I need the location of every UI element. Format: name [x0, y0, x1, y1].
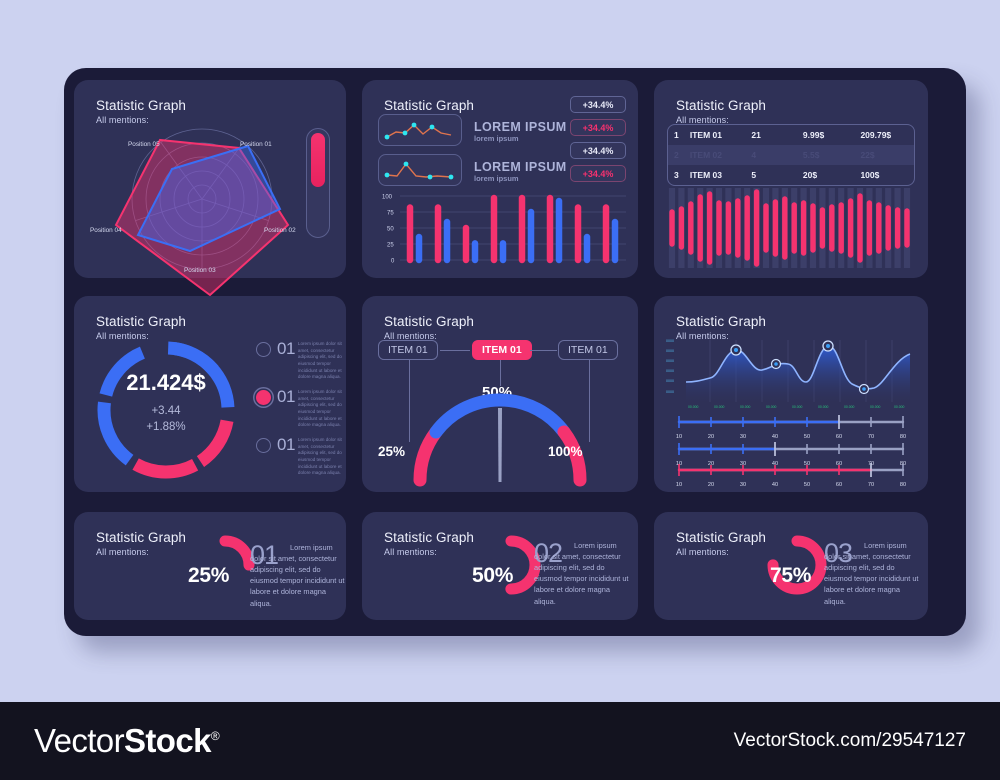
panel-title: Statistic Graph: [676, 314, 766, 329]
svg-text:00.000: 00.000: [870, 405, 880, 409]
chip-item-2[interactable]: ITEM 01: [558, 340, 618, 360]
svg-text:75: 75: [387, 211, 394, 217]
svg-text:20: 20: [708, 482, 714, 488]
legend-item-0[interactable]: 01 Lorem ipsum dolor sit amet, consectet…: [256, 339, 350, 381]
svg-text:00.000: 00.000: [688, 405, 698, 409]
percent-value: 75%: [770, 564, 811, 588]
svg-text:25: 25: [387, 243, 394, 249]
cell-total: 100$: [860, 170, 914, 180]
donut-center-value: 21.424$: [126, 370, 206, 395]
table-row[interactable]: 2 ITEM 02 4 5.5$ 22$: [668, 145, 914, 165]
panel-bar-chart: Statistic Graph All mentions: LOREM IPSU…: [362, 80, 638, 278]
svg-text:80: 80: [900, 482, 906, 488]
panel-subtitle: All mentions:: [96, 547, 149, 557]
cell-qty: 21: [751, 130, 803, 140]
svg-text:70: 70: [868, 482, 874, 488]
svg-text:60: 60: [836, 434, 842, 440]
cell-qty: 4: [751, 150, 803, 160]
waveform-histogram-svg: [665, 186, 917, 270]
radar-axis-label-3: Position 04: [90, 227, 122, 234]
svg-text:00.000: 00.000: [766, 405, 776, 409]
chip-connector-right: [530, 350, 557, 351]
item-subtitle-0: lorem ipsum: [474, 134, 519, 143]
watermark-footer: VectorStock® VectorStock.com/29547127: [0, 702, 1000, 780]
svg-text:00.000: 00.000: [714, 405, 724, 409]
legend-item-2[interactable]: 01 Lorem ipsum dolor sit amet, consectet…: [256, 435, 350, 477]
percent-value: 50%: [472, 564, 513, 588]
svg-text:80: 80: [900, 434, 906, 440]
sparkline-card-1[interactable]: [378, 154, 462, 186]
percent-description: Lorem ipsum dolor sit amet, consectetur …: [824, 540, 920, 607]
svg-text:0000: 0000: [666, 339, 674, 343]
sparkline-icon: [385, 120, 457, 142]
cell-no: 1: [668, 130, 690, 140]
table-row[interactable]: 1 ITEM 01 21 9.99$ 209.79$: [668, 125, 914, 145]
item-title-1: LOREM IPSUM: [474, 160, 567, 174]
svg-text:50: 50: [804, 434, 810, 440]
svg-text:0000: 0000: [666, 359, 674, 363]
svg-text:0000: 0000: [666, 390, 674, 394]
cell-no: 2: [668, 150, 690, 160]
cell-total: 22$: [860, 150, 914, 160]
panel-area-chart: Statistic Graph All mentions:: [654, 296, 928, 492]
sparkline-icon: [385, 160, 457, 182]
cell-item: ITEM 03: [690, 170, 751, 180]
svg-text:70: 70: [868, 434, 874, 440]
svg-text:00.000: 00.000: [792, 405, 802, 409]
panel-percent-1: Statistic Graph All mentions: 25% 01 Lor…: [74, 512, 346, 620]
logo-light: Vector: [34, 722, 124, 759]
cell-price: 9.99$: [803, 130, 861, 140]
chip-connector-left: [440, 350, 470, 351]
slider-fill: [311, 133, 325, 187]
radar-axis-label-4: Position 05: [128, 141, 160, 148]
legend-dot-icon: [256, 342, 271, 357]
chip-item-1[interactable]: ITEM 01: [472, 340, 532, 360]
grouped-bar-chart-svg: 10075 5025 0: [374, 192, 630, 272]
legend-text: Lorem ipsum dolor sit amet, consectetur …: [298, 435, 350, 477]
table-row[interactable]: 3 ITEM 03 5 20$ 100$: [668, 165, 914, 185]
svg-text:50: 50: [804, 482, 810, 488]
gauge-max-label: 100%: [548, 444, 583, 459]
data-table: 1 ITEM 01 21 9.99$ 209.79$ 2 ITEM 02 4 5…: [667, 124, 915, 186]
badge-2[interactable]: +34.4%: [570, 142, 626, 159]
watermark-url: VectorStock.com/29547127: [734, 730, 966, 752]
panel-subtitle: All mentions:: [676, 547, 729, 557]
chip-item-0[interactable]: ITEM 01: [378, 340, 438, 360]
donut-delta-abs: +3.44: [151, 405, 181, 417]
cell-total: 209.79$: [860, 130, 914, 140]
sparkline-card-0[interactable]: [378, 114, 462, 146]
panel-radar-chart: Statistic Graph All mentions: Position 0…: [74, 80, 346, 278]
svg-text:60: 60: [836, 482, 842, 488]
radar-axis-label-0: Position 01: [240, 141, 272, 148]
range-slider-1[interactable]: 10203040 50607080: [675, 414, 907, 440]
legend-number: 01: [277, 387, 295, 407]
area-chart-svg: 00000000 00000000 00000000 00.00000.000 …: [684, 338, 914, 410]
legend-text: Lorem ipsum dolor sit amet, consectetur …: [298, 387, 350, 429]
cell-item: ITEM 02: [690, 150, 751, 160]
svg-text:00.000: 00.000: [894, 405, 904, 409]
svg-text:10: 10: [676, 482, 682, 488]
donut-chart-svg: 21.424$ +3.44 +1.88%: [90, 334, 242, 486]
panel-title: Statistic Graph: [96, 314, 186, 329]
badge-1[interactable]: +34.4%: [570, 119, 626, 136]
legend-number: 01: [277, 339, 295, 359]
svg-text:100: 100: [382, 195, 393, 201]
legend-dot-icon: [256, 390, 271, 405]
panel-title: Statistic Graph: [384, 314, 474, 329]
legend-dot-icon: [256, 438, 271, 453]
badge-0[interactable]: +34.4%: [570, 96, 626, 113]
panel-subtitle: All mentions:: [384, 547, 437, 557]
svg-text:0000: 0000: [666, 379, 674, 383]
svg-text:00.000: 00.000: [740, 405, 750, 409]
panel-percent-2: Statistic Graph All mentions: 50% 02 Lor…: [362, 512, 638, 620]
svg-text:00.000: 00.000: [818, 405, 828, 409]
legend-text: Lorem ipsum dolor sit amet, consectetur …: [298, 339, 350, 381]
radar-chart-svg: Position 01 Position 02 Position 03 Posi…: [92, 124, 312, 274]
registered-mark-icon: ®: [211, 729, 219, 743]
svg-text:40: 40: [772, 434, 778, 440]
svg-text:00.000: 00.000: [844, 405, 854, 409]
svg-text:30: 30: [740, 434, 746, 440]
vectorstock-logo: VectorStock®: [34, 722, 219, 760]
item-title-0: LOREM IPSUM: [474, 120, 567, 134]
panel-title: Statistic Graph: [384, 530, 474, 545]
svg-text:30: 30: [740, 482, 746, 488]
panel-title: Statistic Graph: [676, 98, 766, 113]
svg-text:0: 0: [391, 259, 395, 265]
svg-text:50: 50: [387, 227, 394, 233]
svg-text:10: 10: [676, 434, 682, 440]
donut-delta-pct: +1.88%: [146, 421, 185, 433]
badge-3[interactable]: +34.4%: [570, 165, 626, 182]
range-slider-3[interactable]: 10203040 50607080: [675, 462, 907, 488]
screenshot-root: Statistic Graph All mentions: Position 0…: [0, 0, 1000, 780]
gauge-min-label: 25%: [378, 444, 405, 459]
panel-gauge-chart: Statistic Graph All mentions: ITEM 01 IT…: [362, 296, 638, 492]
cell-price: 5.5$: [803, 150, 861, 160]
panel-table-histogram: Statistic Graph All mentions: 1 ITEM 01 …: [654, 80, 928, 278]
svg-text:0000: 0000: [666, 349, 674, 353]
cell-no: 3: [668, 170, 690, 180]
gauge-arc-svg: [410, 400, 590, 486]
panel-title: Statistic Graph: [96, 530, 186, 545]
panel-title: Statistic Graph: [384, 98, 474, 113]
panel-donut-chart: Statistic Graph All mentions: 21.424$ +3…: [74, 296, 346, 492]
panel-title: Statistic Graph: [96, 98, 186, 113]
panel-percent-3: Statistic Graph All mentions: 75% 03 Lor…: [654, 512, 928, 620]
item-subtitle-1: lorem ipsum: [474, 174, 519, 183]
svg-text:40: 40: [772, 482, 778, 488]
logo-bold: Stock: [124, 722, 211, 759]
percent-description: Lorem ipsum dolor sit amet, consectetur …: [534, 540, 630, 607]
svg-text:0000: 0000: [666, 369, 674, 373]
cell-qty: 5: [751, 170, 803, 180]
percent-value: 25%: [188, 564, 229, 588]
radar-axis-label-2: Position 03: [184, 267, 216, 274]
radar-vertical-slider[interactable]: [306, 128, 330, 238]
cell-price: 20$: [803, 170, 861, 180]
cell-item: ITEM 01: [690, 130, 751, 140]
percent-description: Lorem ipsum dolor sit amet, consectetur …: [250, 542, 346, 609]
legend-item-1[interactable]: 01 Lorem ipsum dolor sit amet, consectet…: [256, 387, 350, 429]
svg-text:20: 20: [708, 434, 714, 440]
panel-title: Statistic Graph: [676, 530, 766, 545]
chip-drop-line-1: [500, 360, 501, 386]
legend-number: 01: [277, 435, 295, 455]
radar-axis-label-1: Position 02: [264, 227, 296, 234]
